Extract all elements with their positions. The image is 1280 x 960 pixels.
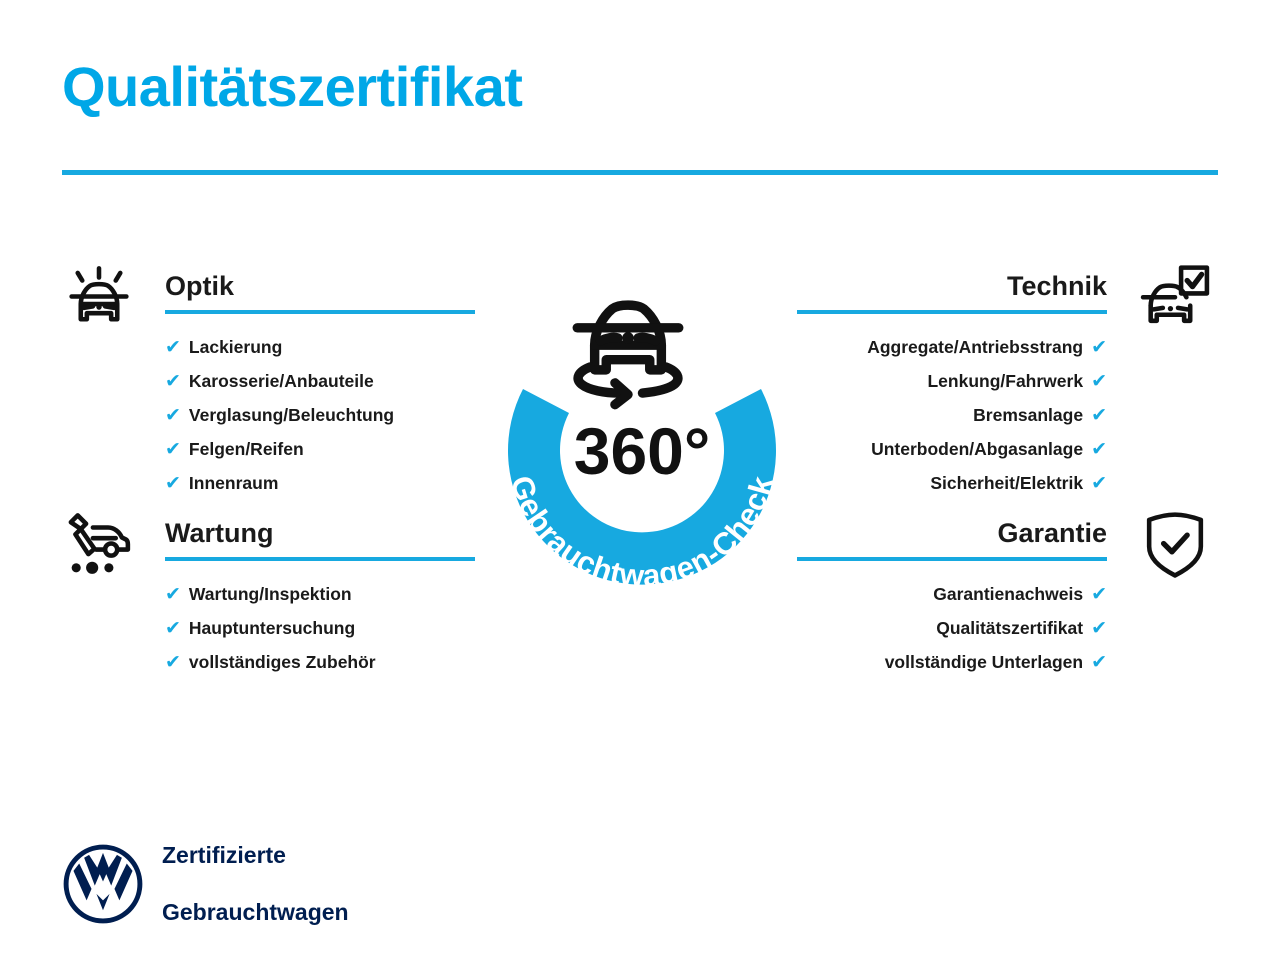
list-item-label: Karosserie/Anbauteile xyxy=(189,373,374,391)
check-icon: ✔ xyxy=(165,585,181,604)
check-icon: ✔ xyxy=(1091,406,1107,425)
list-item-label: Unterboden/Abgasanlage xyxy=(871,441,1083,459)
check-icon: ✔ xyxy=(165,406,181,425)
header-divider xyxy=(62,170,1218,175)
optik-item-list: ✔ Lackierung ✔ Karosserie/Anbauteile ✔ V… xyxy=(55,330,475,500)
check-icon: ✔ xyxy=(165,619,181,638)
list-item: vollständige Unterlagen ✔ xyxy=(795,645,1215,679)
check-icon: ✔ xyxy=(165,338,181,357)
section-underline-technik xyxy=(797,310,1107,314)
list-item: ✔ vollständiges Zubehör xyxy=(55,645,475,679)
technik-item-list: Aggregate/Antriebsstrang ✔ Lenkung/Fahrw… xyxy=(795,330,1215,500)
section-title-technik: Technik xyxy=(1007,271,1107,302)
wartung-item-list: ✔ Wartung/Inspektion ✔ Hauptuntersuchung… xyxy=(55,577,475,679)
check-icon: ✔ xyxy=(1091,474,1107,493)
check-icon: ✔ xyxy=(1091,338,1107,357)
garantie-heading-area: Garantie xyxy=(795,505,1215,561)
certificate-page: Qualitätszertifikat Optik xyxy=(0,0,1280,960)
list-item: Lenkung/Fahrwerk ✔ xyxy=(795,364,1215,398)
list-item: Qualitätszertifikat ✔ xyxy=(795,611,1215,645)
section-optik: Optik ✔ Lackierung ✔ Karosserie/Anbautei… xyxy=(55,258,475,500)
garantie-item-list: Garantienachweis ✔ Qualitätszertifikat ✔… xyxy=(795,577,1215,679)
list-item-label: vollständige Unterlagen xyxy=(885,654,1083,672)
vw-logo xyxy=(62,843,144,925)
list-item: Bremsanlage ✔ xyxy=(795,398,1215,432)
list-item-label: Aggregate/Antriebsstrang xyxy=(867,339,1083,357)
badge-center-label: 360° xyxy=(574,414,711,488)
list-item-label: Qualitätszertifikat xyxy=(936,620,1083,638)
footer-line-2: Gebrauchtwagen xyxy=(162,898,349,927)
section-title-optik: Optik xyxy=(165,271,234,302)
list-item: Unterboden/Abgasanlage ✔ xyxy=(795,432,1215,466)
list-item-label: Lackierung xyxy=(189,339,282,357)
list-item: ✔ Innenraum xyxy=(55,466,475,500)
footer-line-1: Zertifizierte xyxy=(162,841,349,870)
list-item-label: Verglasung/Beleuchtung xyxy=(189,407,394,425)
list-item: ✔ Hauptuntersuchung xyxy=(55,611,475,645)
list-item-label: Lenkung/Fahrwerk xyxy=(927,373,1083,391)
footer-text: Zertifizierte Gebrauchtwagen xyxy=(162,812,349,956)
list-item: ✔ Verglasung/Beleuchtung xyxy=(55,398,475,432)
list-item: Sicherheit/Elektrik ✔ xyxy=(795,466,1215,500)
list-item-label: Felgen/Reifen xyxy=(189,441,304,459)
list-item-label: Innenraum xyxy=(189,475,278,493)
section-garantie: Garantie Garantienachweis ✔ Qualitätszer… xyxy=(795,505,1215,679)
car-rotate-icon xyxy=(577,305,679,405)
list-item-label: Garantienachweis xyxy=(933,586,1083,604)
list-item: ✔ Karosserie/Anbauteile xyxy=(55,364,475,398)
section-title-garantie: Garantie xyxy=(997,518,1107,549)
technik-heading-area: Technik xyxy=(795,258,1215,314)
list-item-label: Sicherheit/Elektrik xyxy=(930,475,1083,493)
check-icon: ✔ xyxy=(1091,653,1107,672)
optik-heading-area: Optik xyxy=(55,258,475,314)
check-icon: ✔ xyxy=(1091,372,1107,391)
wartung-heading-area: Wartung xyxy=(55,505,475,561)
list-item-label: Wartung/Inspektion xyxy=(189,586,352,604)
check-icon: ✔ xyxy=(165,372,181,391)
section-technik: Technik Aggregate/Antriebsstrang ✔ Lenku… xyxy=(795,258,1215,500)
list-item: ✔ Felgen/Reifen xyxy=(55,432,475,466)
section-underline-garantie xyxy=(797,557,1107,561)
list-item-label: vollständiges Zubehör xyxy=(189,654,376,672)
section-underline-wartung xyxy=(165,557,475,561)
gebrauchtwagen-check-badge: Gebrauchtwagen-Check 360° xyxy=(462,252,822,632)
check-icon: ✔ xyxy=(1091,619,1107,638)
page-title: Qualitätszertifikat xyxy=(62,58,522,117)
check-icon: ✔ xyxy=(165,653,181,672)
section-title-wartung: Wartung xyxy=(165,518,273,549)
section-underline-optik xyxy=(165,310,475,314)
list-item-label: Hauptuntersuchung xyxy=(189,620,355,638)
section-wartung: Wartung ✔ Wartung/Inspektion ✔ Hauptunte… xyxy=(55,505,475,679)
check-icon: ✔ xyxy=(1091,585,1107,604)
footer-brand: Zertifizierte Gebrauchtwagen xyxy=(62,812,349,956)
check-icon: ✔ xyxy=(165,474,181,493)
check-icon: ✔ xyxy=(165,440,181,459)
check-icon: ✔ xyxy=(1091,440,1107,459)
list-item-label: Bremsanlage xyxy=(973,407,1083,425)
